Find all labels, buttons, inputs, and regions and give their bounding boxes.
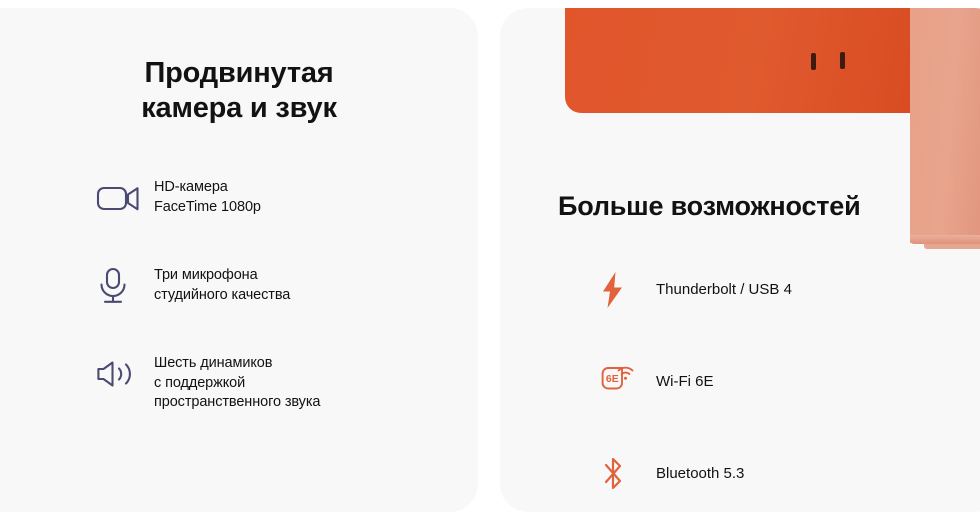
feature-microphones: Три микрофона студийного качества bbox=[96, 264, 466, 308]
microphone-icon bbox=[96, 264, 154, 308]
feature-speakers-label: Шесть динамиков с поддержкой пространств… bbox=[154, 352, 320, 413]
feature-hd-camera-label: HD-камера FaceTime 1080p bbox=[154, 176, 261, 217]
feature-thunderbolt: Thunderbolt / USB 4 bbox=[598, 270, 978, 310]
left-card-heading: Продвинутая камера и звук bbox=[0, 56, 478, 127]
svg-text:6E: 6E bbox=[606, 373, 619, 385]
imac-port-2 bbox=[840, 52, 845, 69]
left-card-content: Продвинутая камера и звук HD-камера Face… bbox=[0, 8, 478, 512]
feature-microphones-label: Три микрофона студийного качества bbox=[154, 264, 290, 305]
speaker-volume-icon bbox=[96, 352, 154, 396]
imac-side-panel-edge bbox=[910, 235, 980, 244]
imac-screen-back-panel bbox=[565, 8, 913, 113]
more-features-card: Больше возможностей Thunderbolt / USB 4 bbox=[500, 8, 980, 512]
feature-wifi-6e-label: Wi-Fi 6E bbox=[656, 372, 714, 392]
imac-side-panel bbox=[910, 8, 980, 243]
imac-port-1 bbox=[811, 53, 816, 70]
left-feature-list: HD-камера FaceTime 1080p Три микрофона с… bbox=[96, 176, 466, 413]
right-card-heading: Больше возможностей bbox=[558, 191, 861, 222]
wifi-6e-icon: 6E bbox=[598, 362, 656, 402]
camera-audio-card: Продвинутая камера и звук HD-камера Face… bbox=[0, 8, 478, 512]
feature-bluetooth: Bluetooth 5.3 bbox=[598, 454, 978, 494]
feature-bluetooth-label: Bluetooth 5.3 bbox=[656, 464, 744, 484]
right-feature-list: Thunderbolt / USB 4 6E Wi-Fi 6E bbox=[598, 270, 978, 494]
feature-thunderbolt-label: Thunderbolt / USB 4 bbox=[656, 280, 792, 300]
bluetooth-icon bbox=[598, 454, 656, 494]
video-camera-icon bbox=[96, 176, 154, 220]
right-card-content: Больше возможностей Thunderbolt / USB 4 bbox=[500, 8, 980, 512]
feature-wifi-6e: 6E Wi-Fi 6E bbox=[598, 362, 978, 402]
feature-hd-camera: HD-камера FaceTime 1080p bbox=[96, 176, 466, 220]
page-root: Продвинутая камера и звук HD-камера Face… bbox=[0, 0, 980, 525]
feature-speakers: Шесть динамиков с поддержкой пространств… bbox=[96, 352, 466, 413]
thunderbolt-icon bbox=[598, 270, 656, 310]
imac-side-panel-base bbox=[924, 244, 980, 249]
